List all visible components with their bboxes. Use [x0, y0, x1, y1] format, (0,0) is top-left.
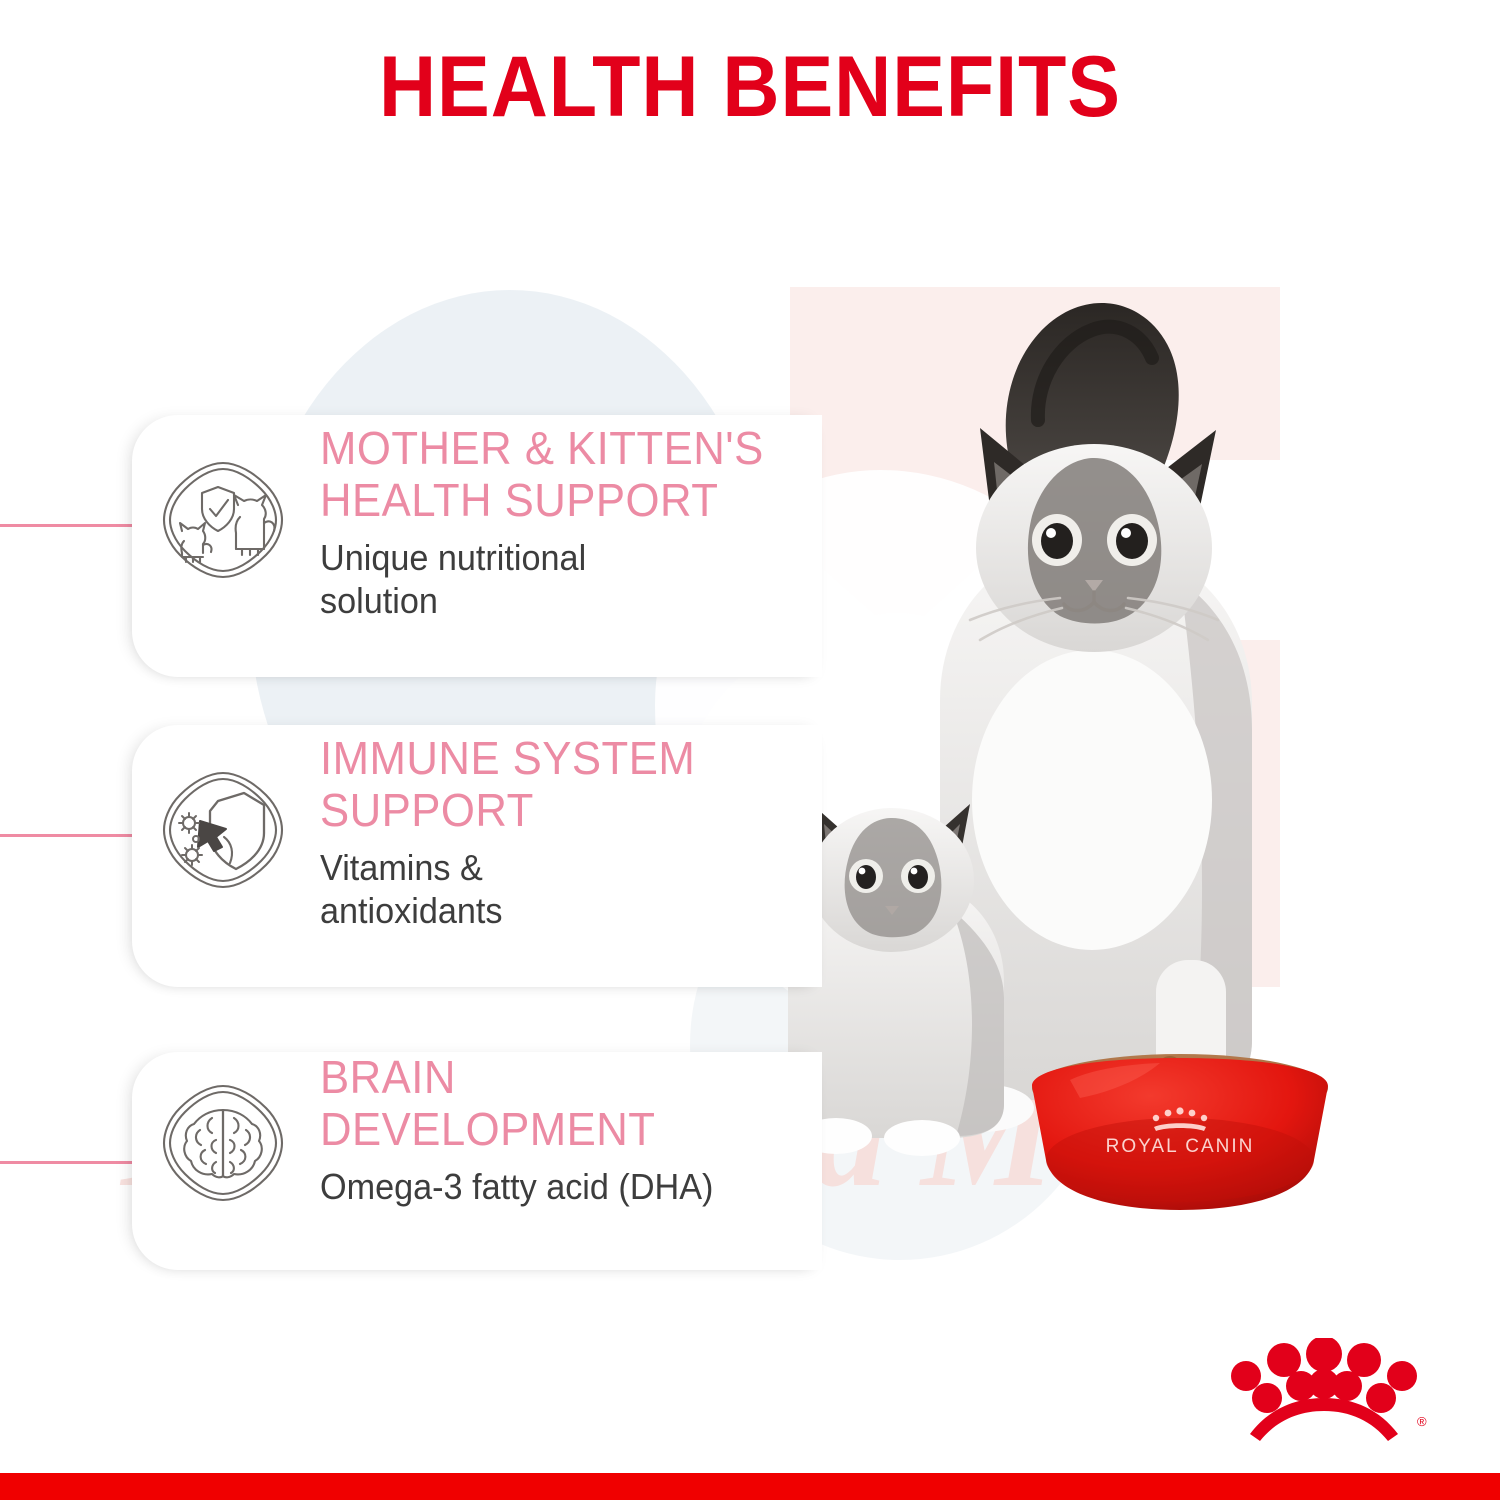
benefit-subtext: Unique nutritional solution [320, 536, 776, 622]
benefit-card[interactable]: MOTHER & KITTEN'S HEALTH SUPPORT Unique … [132, 415, 822, 677]
benefit-row[interactable]: IMMUNE SYSTEM SUPPORT Vitamins & antioxi… [0, 725, 820, 987]
royal-canin-crown-logo: ® [1216, 1338, 1432, 1448]
benefit-card[interactable]: BRAIN DEVELOPMENT Omega-3 fatty acid (DH… [132, 1052, 822, 1270]
connector-line [0, 834, 140, 837]
benefit-text: IMMUNE SYSTEM SUPPORT Vitamins & antioxi… [320, 733, 800, 932]
registered-mark: ® [1417, 1414, 1427, 1429]
bottom-red-bar [0, 1473, 1500, 1500]
svg-text:ROYAL CANIN: ROYAL CANIN [1106, 1136, 1255, 1157]
benefit-text: BRAIN DEVELOPMENT Omega-3 fatty acid (DH… [320, 1052, 800, 1208]
benefit-heading: IMMUNE SYSTEM SUPPORT [320, 733, 776, 836]
benefit-row[interactable]: MOTHER & KITTEN'S HEALTH SUPPORT Unique … [0, 415, 820, 677]
benefit-card[interactable]: IMMUNE SYSTEM SUPPORT Vitamins & antioxi… [132, 725, 822, 987]
cat-kitten-shield-icon [160, 457, 286, 583]
brain-icon [160, 1080, 286, 1206]
benefits-list: MOTHER & KITTEN'S HEALTH SUPPORT Unique … [0, 0, 820, 1300]
benefit-subtext: Vitamins & antioxidants [320, 846, 776, 932]
benefit-subtext: Omega-3 fatty acid (DHA) [320, 1165, 776, 1208]
connector-line [0, 524, 140, 527]
shield-germs-icon [160, 767, 286, 893]
benefit-heading: BRAIN DEVELOPMENT [320, 1052, 776, 1155]
benefit-row[interactable]: BRAIN DEVELOPMENT Omega-3 fatty acid (DH… [0, 1052, 820, 1314]
connector-line [0, 1161, 140, 1164]
benefit-heading: MOTHER & KITTEN'S HEALTH SUPPORT [320, 423, 776, 526]
benefit-text: MOTHER & KITTEN'S HEALTH SUPPORT Unique … [320, 423, 800, 622]
